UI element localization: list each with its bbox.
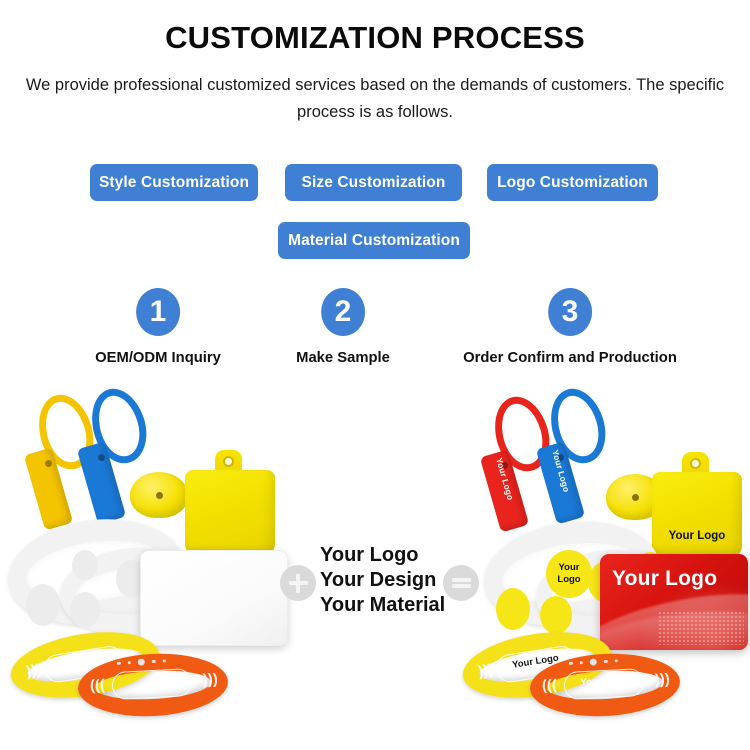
wristband-logo-line1: Your <box>546 562 592 574</box>
customization-process-infographic: CUSTOMIZATION PROCESS We provide profess… <box>0 0 750 750</box>
pvc-card-branded: Your Logo <box>600 554 748 650</box>
stud-buckle <box>138 658 145 665</box>
pvc-card-blank <box>140 550 288 646</box>
ear-tag-hole-icon <box>223 456 234 467</box>
wristband-logo-line2: Logo <box>546 574 592 586</box>
stud <box>604 660 608 664</box>
equals-bar-bottom <box>452 584 471 589</box>
stud <box>127 661 131 665</box>
process-step-3: 3 Order Confirm and Production <box>463 288 677 366</box>
process-step-1: 1 OEM/ODM Inquiry <box>95 288 221 366</box>
rfid-wave-left-icon: ((( <box>90 677 106 695</box>
stud <box>152 660 156 664</box>
stud <box>569 661 573 665</box>
step-number-badge-1: 1 <box>136 288 180 336</box>
wristband-dot <box>26 584 60 626</box>
card-halftone-decoration <box>658 611 744 645</box>
ear-tag-hole-icon <box>690 458 701 469</box>
branded-products-panel: Your Logo Your Logo Your Logo <box>450 382 750 750</box>
equals-icon <box>443 565 479 601</box>
button-ear-tag-yellow <box>130 472 188 518</box>
customization-equation-text: Your Logo Your Design Your Material <box>320 543 445 618</box>
rfid-wave-left-icon: ((( <box>542 677 558 695</box>
step-number-badge-2: 2 <box>321 288 365 336</box>
chip-style-customization[interactable]: Style Customization <box>90 164 258 201</box>
page-title: CUSTOMIZATION PROCESS <box>0 20 750 56</box>
rfid-wave-icon: ))) <box>25 661 42 680</box>
chip-material-customization[interactable]: Material Customization <box>278 222 470 259</box>
step-label-2: Make Sample <box>296 350 390 366</box>
wristband-dot <box>70 592 100 628</box>
stud-buckle <box>590 658 597 665</box>
step-label-1: OEM/ODM Inquiry <box>95 350 221 366</box>
page-subtitle: We provide professional customized servi… <box>0 72 750 126</box>
step-number-badge-3: 3 <box>548 288 592 336</box>
ear-tag-pin-icon <box>632 494 639 501</box>
stud <box>162 659 166 663</box>
silicone-wristband-orange-branded: Your Logo ((( ))) <box>528 650 681 720</box>
stud <box>579 661 583 665</box>
wristband-dot <box>72 550 98 580</box>
blank-products-panel: ))) ((( ))) <box>0 382 300 750</box>
wristband-dot <box>496 588 530 630</box>
rfid-wave-right-icon: ))) <box>654 671 670 689</box>
stud <box>117 661 121 665</box>
stud <box>614 659 618 663</box>
equals-bar-top <box>452 578 471 583</box>
seal-tag-blue-branded: Your Logo <box>534 388 612 518</box>
process-step-2: 2 Make Sample <box>296 288 390 366</box>
wristband-logo-plate <box>111 668 192 700</box>
equation-line-material: Your Material <box>320 593 445 618</box>
chip-logo-customization[interactable]: Logo Customization <box>487 164 658 201</box>
equation-line-logo: Your Logo <box>320 543 445 568</box>
plus-icon <box>280 565 316 601</box>
rfid-wave-icon: ))) <box>477 661 494 680</box>
equation-line-design: Your Design <box>320 568 445 593</box>
rfid-wave-right-icon: ))) <box>202 671 218 689</box>
ear-tag-pin-icon <box>156 492 163 499</box>
chip-size-customization[interactable]: Size Customization <box>285 164 462 201</box>
step-label-3: Order Confirm and Production <box>463 350 677 366</box>
card-logo-text: Your Logo <box>612 567 717 591</box>
plus-bar-vertical <box>296 574 301 593</box>
silicone-wristband-orange-blank: ((( ))) <box>76 650 229 720</box>
